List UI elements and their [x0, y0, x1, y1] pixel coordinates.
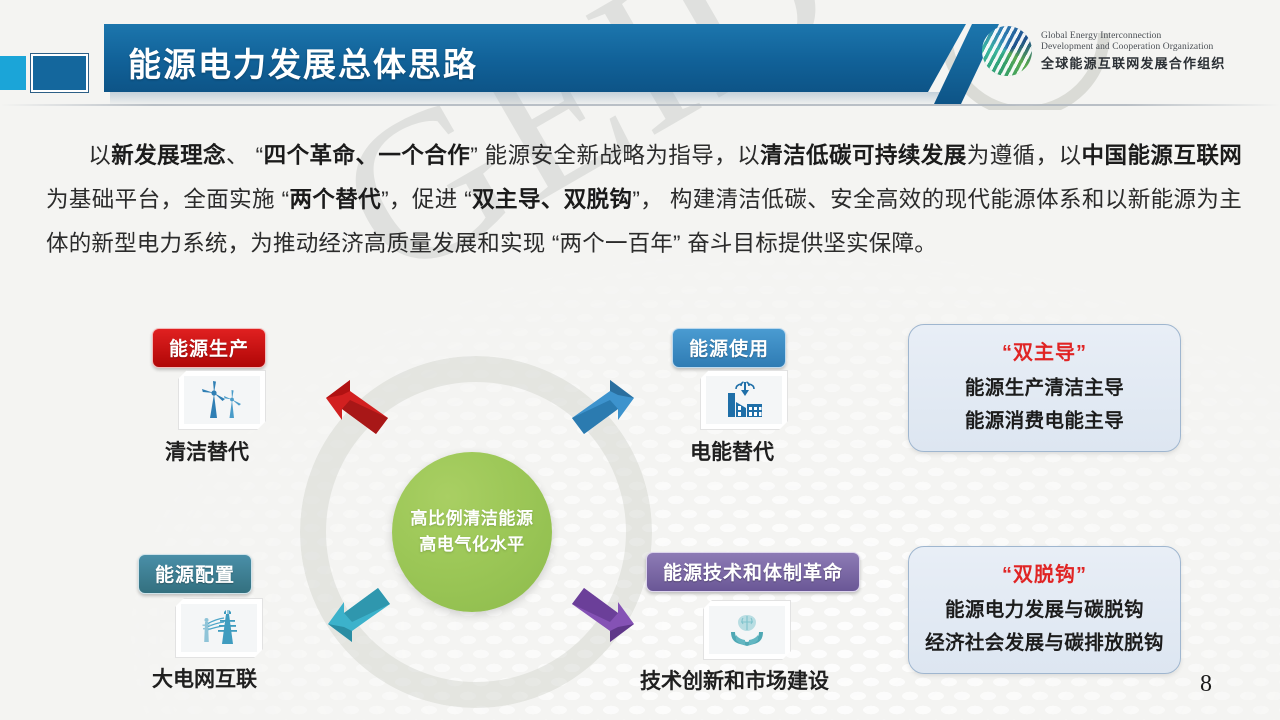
- header-square-cyan: [0, 56, 26, 90]
- arrow-to-energy-allocation: [322, 578, 396, 644]
- paragraph-text: ” 能源安全新战略为指导，以: [470, 143, 760, 168]
- core-line-1: 高比例清洁能源: [410, 506, 533, 532]
- header-divider: [0, 104, 1280, 106]
- paragraph-emphasis: 清洁低碳可持续发展: [760, 143, 967, 168]
- paragraph-text: 以: [88, 143, 111, 168]
- organization-logo: Global Energy Interconnection Developmen…: [982, 26, 1226, 76]
- panel-dual-leading-line-1: 能源生产清洁主导: [919, 372, 1170, 405]
- arrow-to-energy-production: [320, 378, 394, 444]
- page-title: 能源电力发展总体思路: [128, 38, 478, 86]
- slide-header: 能源电力发展总体思路 Global Energy Interconnection…: [0, 0, 1280, 118]
- arrow-to-energy-technology: [566, 578, 640, 644]
- panel-dual-decoupling-line-1: 能源电力发展与碳脱钩: [919, 594, 1170, 627]
- header-square-blue: [31, 54, 88, 92]
- panel-dual-decoupling-title: “双脱钩”: [919, 558, 1170, 587]
- factory-icon: [719, 380, 769, 420]
- core-line-2: 高电气化水平: [419, 532, 525, 558]
- panel-dual-decoupling-line-2: 经济社会发展与碳排放脱钩: [919, 627, 1170, 660]
- panel-dual-leading: “双主导” 能源生产清洁主导 能源消费电能主导: [908, 324, 1181, 452]
- tile-energy-use: [700, 370, 788, 430]
- panel-dual-leading-line-2: 能源消费电能主导: [919, 405, 1170, 438]
- wind-turbine-icon: [197, 380, 247, 420]
- paragraph-emphasis: 新发展理念: [111, 143, 226, 168]
- paragraph-emphasis: 两个替代: [289, 187, 381, 212]
- logo-english-line1: Global Energy Interconnection: [1041, 31, 1226, 42]
- brain-in-hands-icon: [721, 610, 773, 650]
- tile-energy-allocation: [175, 598, 263, 658]
- badge-energy-allocation: 能源配置: [138, 554, 252, 594]
- core-circle: 高比例清洁能源 高电气化水平: [392, 452, 552, 612]
- slide-root: GEIDCO 能源电力发展总体思路 Global Energy Intercon…: [0, 0, 1280, 720]
- paragraph-text: 、 “: [226, 143, 263, 168]
- paragraph-emphasis: 中国能源互联网: [1082, 143, 1242, 168]
- paragraph-text: 为遵循，以: [967, 143, 1082, 168]
- body-paragraph: 以新发展理念、 “四个革命、一个合作” 能源安全新战略为指导，以清洁低碳可持续发…: [46, 134, 1242, 266]
- logo-english-line2: Development and Cooperation Organization: [1041, 42, 1226, 53]
- page-number: 8: [1200, 671, 1212, 698]
- panel-dual-decoupling: “双脱钩” 能源电力发展与碳脱钩 经济社会发展与碳排放脱钩: [908, 546, 1181, 674]
- caption-electricity-substitution: 电能替代: [690, 436, 774, 466]
- logo-chinese-name: 全球能源互联网发展合作组织: [1041, 56, 1226, 71]
- tile-energy-production: [178, 370, 266, 430]
- arrow-to-energy-use: [566, 378, 640, 444]
- paragraph-emphasis: 四个革命、一个合作: [263, 143, 470, 168]
- paragraph-emphasis: 双主导、双脱钩: [472, 187, 632, 212]
- strategy-diagram: 高比例清洁能源 高电气化水平 能源生产: [0, 310, 900, 720]
- paragraph-text: 为基础平台，全面实施 “: [46, 187, 289, 212]
- paragraph-text: ”，促进 “: [381, 187, 472, 212]
- panel-dual-leading-title: “双主导”: [919, 336, 1170, 365]
- badge-energy-production: 能源生产: [152, 328, 266, 368]
- caption-grid-interconnection: 大电网互联: [152, 663, 257, 693]
- globe-icon: [982, 26, 1032, 76]
- caption-tech-innovation-market: 技术创新和市场建设: [640, 665, 829, 695]
- tile-energy-technology: [703, 600, 791, 660]
- caption-clean-substitution: 清洁替代: [165, 436, 249, 466]
- badge-energy-use: 能源使用: [672, 328, 786, 368]
- transmission-tower-icon: [193, 608, 245, 648]
- badge-energy-technology-revolution: 能源技术和体制革命: [646, 552, 860, 592]
